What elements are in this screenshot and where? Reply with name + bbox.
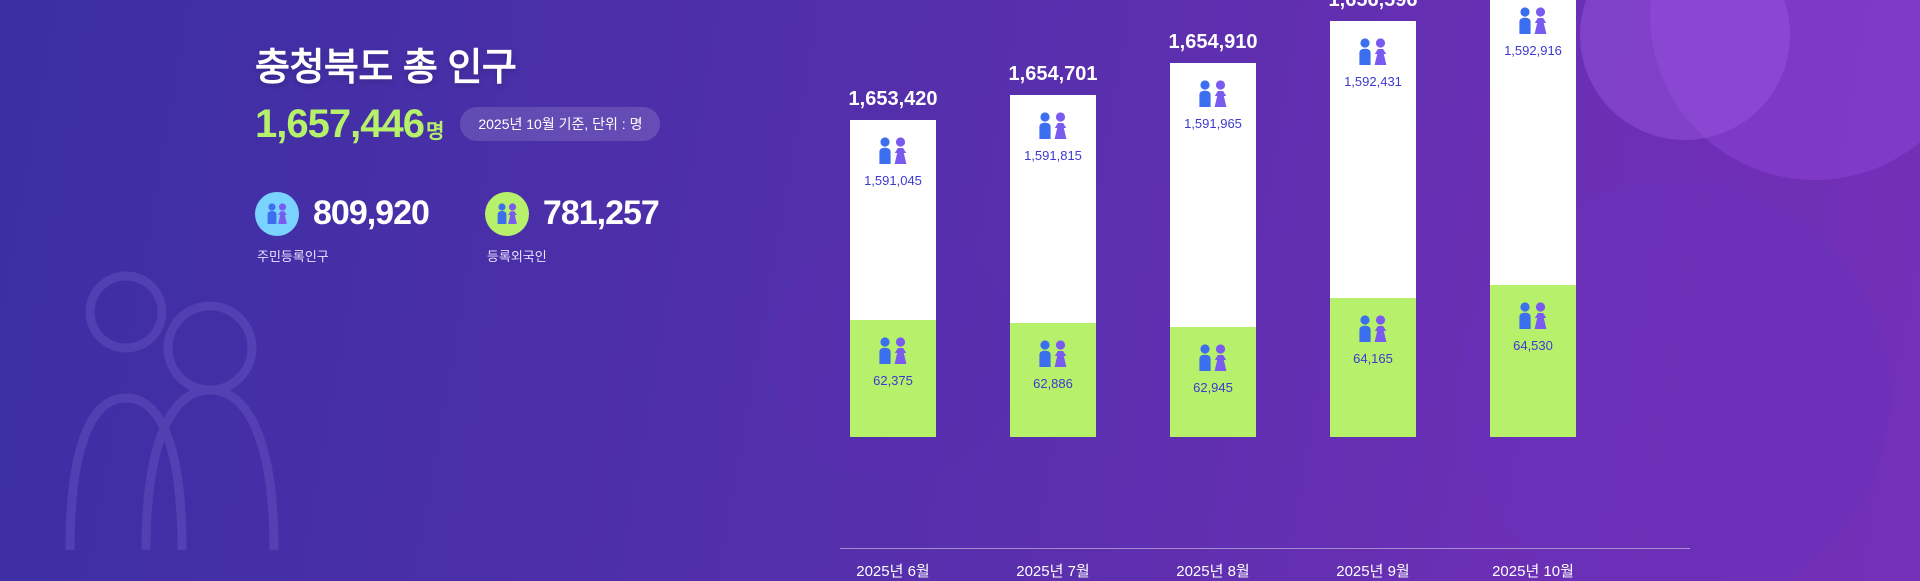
- bar-column: 1,653,420 1,591,045: [850, 88, 936, 437]
- chart-bars: 1,653,420 1,591,045: [850, 40, 1700, 510]
- bar-body: 1,592,431 64,165: [1330, 21, 1416, 437]
- people-icon: [1193, 79, 1233, 109]
- people-icon: [1033, 111, 1073, 141]
- bar-body: 1,591,965 62,945: [1170, 63, 1256, 437]
- bar-total-label: 1,654,701: [1009, 63, 1098, 86]
- bar-segment-value: 1,592,916: [1504, 43, 1562, 58]
- bar-segment-foreigners: 62,886: [1010, 323, 1096, 437]
- bar-segment-value: 64,165: [1353, 351, 1393, 366]
- people-icon: [1513, 301, 1553, 331]
- summary-panel: 충청북도 총 인구 1,657,446 명 2025년 10월 기준, 단위 :…: [255, 48, 875, 265]
- x-axis-label: 2025년 9월: [1313, 560, 1433, 581]
- people-icon: [873, 136, 913, 166]
- bar-segment-value: 1,591,815: [1024, 148, 1082, 163]
- stats-row: 809,920 주민등록인구: [255, 192, 875, 265]
- bar-segment-value: 1,592,431: [1344, 74, 1402, 89]
- people-icon: [1033, 339, 1073, 369]
- bar-segment-value: 62,886: [1033, 376, 1073, 391]
- bar-body: 1,591,045 62,375: [850, 120, 936, 437]
- page-title: 충청북도 총 인구: [255, 48, 875, 90]
- stat-registered-foreigners: 781,257 등록외국인: [485, 192, 659, 265]
- bar-body: 1,592,916 64,530: [1490, 0, 1576, 437]
- people-icon: [1513, 6, 1553, 36]
- stat-label: 주민등록인구: [257, 246, 429, 265]
- bar-segment-foreigners: 62,375: [850, 320, 936, 437]
- stat-label: 등록외국인: [487, 246, 659, 265]
- stat-value: 781,257: [543, 194, 659, 233]
- bar-segment-value: 1,591,965: [1184, 116, 1242, 131]
- bar-segment-foreigners: 64,530: [1490, 285, 1576, 437]
- bar-body: 1,591,815 62,886: [1010, 95, 1096, 437]
- x-axis-label: 2025년 7월: [993, 560, 1113, 581]
- total-population-value: 1,657,446: [255, 104, 424, 144]
- stat-value: 809,920: [313, 194, 429, 233]
- bar-segment-resident: 1,591,815: [1010, 95, 1096, 323]
- total-population-unit: 명: [426, 115, 444, 144]
- x-axis-label: 2025년 6월: [833, 560, 953, 581]
- people-icon: [1353, 37, 1393, 67]
- people-icon: [255, 192, 299, 236]
- bar-segment-foreigners: 62,945: [1170, 327, 1256, 437]
- population-bar-chart: 1,653,420 1,591,045: [820, 40, 1700, 550]
- people-icon: [485, 192, 529, 236]
- bar-segment-value: 1,591,045: [864, 173, 922, 188]
- people-icon: [1353, 314, 1393, 344]
- bar-segment-value: 64,530: [1513, 338, 1553, 353]
- people-silhouette-icon: [60, 250, 360, 550]
- bar-total-label: 1,653,420: [849, 88, 938, 111]
- bar-total-label: 1,656,596: [1329, 0, 1418, 12]
- reference-date-badge: 2025년 10월 기준, 단위 : 명: [460, 107, 660, 141]
- people-icon: [1193, 343, 1233, 373]
- x-axis-label: 2025년 10월: [1473, 560, 1593, 581]
- stat-resident-population: 809,920 주민등록인구: [255, 192, 429, 265]
- bar-total-label: 1,654,910: [1169, 31, 1258, 54]
- bar-segment-resident: 1,592,916: [1490, 0, 1576, 285]
- bar-segment-value: 62,375: [873, 373, 913, 388]
- total-population-row: 1,657,446 명 2025년 10월 기준, 단위 : 명: [255, 104, 875, 144]
- bar-segment-resident: 1,592,431: [1330, 21, 1416, 298]
- infographic-banner: 충청북도 총 인구 1,657,446 명 2025년 10월 기준, 단위 :…: [0, 0, 1920, 581]
- bar-segment-resident: 1,591,045: [850, 120, 936, 320]
- bar-column: 1,657,446 1,592,916: [1490, 0, 1576, 437]
- chart-baseline: [840, 548, 1690, 549]
- bar-column: 1,656,596 1,592,431: [1330, 0, 1416, 437]
- bar-column: 1,654,910 1,591,965: [1170, 31, 1256, 437]
- bar-segment-foreigners: 64,165: [1330, 298, 1416, 437]
- bar-column: 1,654,701 1,591,815: [1010, 63, 1096, 437]
- x-axis-label: 2025년 8월: [1153, 560, 1273, 581]
- bar-segment-resident: 1,591,965: [1170, 63, 1256, 327]
- people-icon: [873, 336, 913, 366]
- bar-segment-value: 62,945: [1193, 380, 1233, 395]
